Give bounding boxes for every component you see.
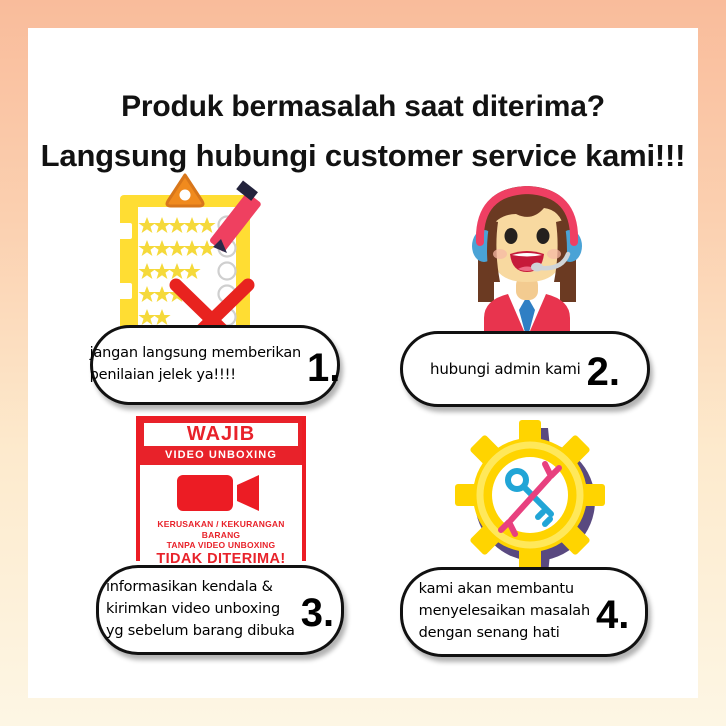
step-3-line-3: yg sebelum barang dibuka — [106, 621, 295, 643]
gear-key-wrench-illustration — [455, 420, 605, 570]
customer-service-agent-illustration — [432, 170, 622, 350]
wajib-title: WAJIB — [144, 423, 298, 446]
step-1-text: jangan langsung memberikan penilaian jel… — [90, 343, 301, 387]
step-2-line-1: hubungi admin kami — [430, 358, 581, 381]
step-4-line-2: menyelesaikan masalah — [419, 601, 590, 623]
agent-icon — [432, 170, 622, 350]
page-title-line-1: Produk bermasalah saat diterima? — [28, 90, 698, 124]
step-3-text: informasikan kendala & kirimkan video un… — [106, 577, 295, 642]
poster-canvas: Produk bermasalah saat diterima? Langsun… — [28, 28, 698, 698]
step-3-line-1: informasikan kendala & — [106, 577, 295, 599]
step-3-number: 3. — [301, 590, 334, 630]
wajib-footer-line-1: KERUSAKAN / KEKURANGAN BARANG — [142, 519, 300, 540]
step-1-line-1: jangan langsung memberikan — [90, 343, 301, 365]
wajib-subtitle: VIDEO UNBOXING — [144, 446, 298, 461]
wajib-footer: KERUSAKAN / KEKURANGAN BARANG TANPA VIDE… — [140, 517, 302, 571]
wajib-footer-line-2: TANPA VIDEO UNBOXING — [142, 540, 300, 551]
step-1-number: 1. — [307, 345, 340, 385]
step-4-number: 4. — [596, 592, 629, 632]
gear-icon — [455, 420, 605, 570]
step-2-text: hubungi admin kami — [430, 358, 581, 381]
poster-root: Produk bermasalah saat diterima? Langsun… — [0, 0, 726, 726]
video-camera-icon — [171, 469, 271, 515]
step-3-speech-bubble[interactable]: informasikan kendala & kirimkan video un… — [96, 565, 344, 655]
wajib-header-band: WAJIB VIDEO UNBOXING — [140, 420, 302, 465]
step-4-text: kami akan membantu menyelesaikan masalah… — [419, 579, 590, 644]
step-2-speech-bubble[interactable]: hubungi admin kami 2. — [400, 331, 650, 407]
page-title-line-2: Langsung hubungi customer service kami!!… — [28, 138, 698, 174]
wajib-camera-area — [140, 465, 302, 517]
step-1-line-2: penilaian jelek ya!!!! — [90, 365, 301, 387]
step-2-number: 2. — [587, 349, 620, 389]
step-4-line-1: kami akan membantu — [419, 579, 590, 601]
step-4-speech-bubble[interactable]: kami akan membantu menyelesaikan masalah… — [400, 567, 648, 657]
step-1-speech-bubble[interactable]: jangan langsung memberikan penilaian jel… — [90, 325, 340, 405]
step-4-line-3: dengan senang hati — [419, 623, 590, 645]
step-3-line-2: kirimkan video unboxing — [106, 599, 295, 621]
wajib-video-unboxing-sign: WAJIB VIDEO UNBOXING KERUSAKAN / KEKURAN… — [136, 416, 306, 561]
